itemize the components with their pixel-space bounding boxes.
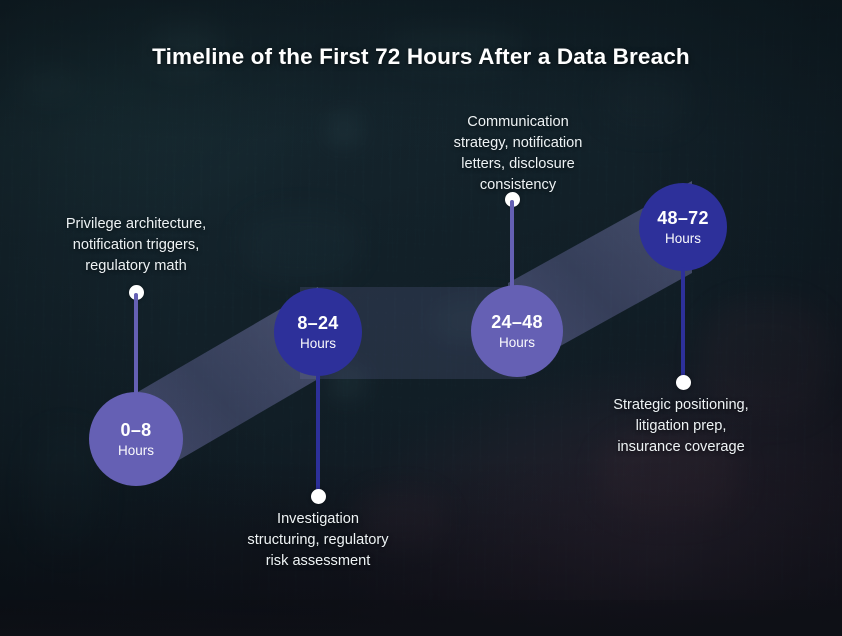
- milestone-unit-48-72: Hours: [665, 232, 701, 246]
- milestone-stem-0-8: [134, 293, 138, 397]
- milestone-stem-8-24: [316, 372, 320, 494]
- milestone-range-8-24: 8–24: [297, 314, 338, 332]
- milestone-note-48-72: Strategic positioning, litigation prep, …: [586, 395, 776, 458]
- milestone-stem-24-48: [510, 200, 514, 290]
- milestone-range-0-8: 0–8: [121, 421, 152, 439]
- milestone-node-8-24[interactable]: 8–24 Hours: [274, 288, 362, 376]
- milestone-note-0-8: Privilege architecture, notification tri…: [38, 214, 234, 277]
- milestone-stem-48-72: [681, 267, 685, 380]
- infographic-canvas: Timeline of the First 72 Hours After a D…: [0, 0, 842, 636]
- milestone-note-24-48: Communication strategy, notification let…: [421, 112, 615, 196]
- milestone-unit-8-24: Hours: [300, 337, 336, 351]
- milestone-unit-24-48: Hours: [499, 336, 535, 350]
- timeline-ribbon: [0, 0, 842, 636]
- milestone-note-8-24: Investigation structuring, regulatory ri…: [222, 509, 414, 572]
- milestone-range-48-72: 48–72: [657, 209, 709, 227]
- milestone-node-24-48[interactable]: 24–48 Hours: [471, 285, 563, 377]
- milestone-node-48-72[interactable]: 48–72 Hours: [639, 183, 727, 271]
- milestone-marker-dot-48-72: [676, 375, 691, 390]
- milestone-marker-dot-8-24: [311, 489, 326, 504]
- milestone-range-24-48: 24–48: [491, 313, 543, 331]
- milestone-unit-0-8: Hours: [118, 444, 154, 458]
- milestone-node-0-8[interactable]: 0–8 Hours: [89, 392, 183, 486]
